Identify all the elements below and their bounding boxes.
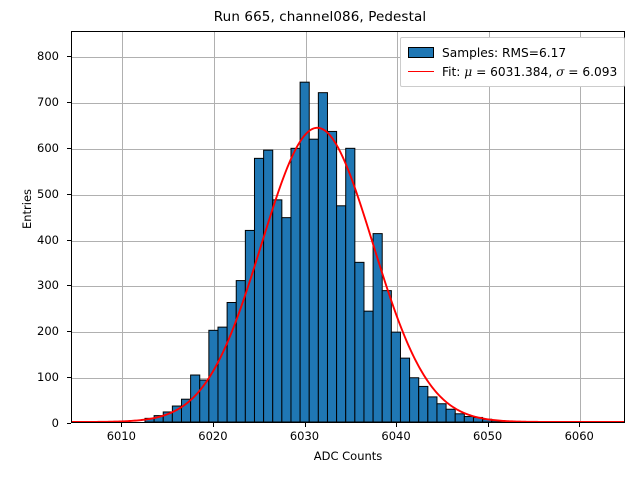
histogram-bar (391, 332, 400, 422)
histogram-bar (400, 358, 409, 422)
histogram-bar (236, 281, 245, 422)
histogram-bar (437, 404, 446, 422)
legend[interactable]: Samples: RMS=6.17 Fit: μ = 6031.384, σ =… (400, 37, 625, 87)
y-tick-label: 400 (37, 233, 59, 247)
x-tick-mark (305, 423, 306, 427)
histogram-bar (318, 93, 327, 422)
histogram-bar (218, 327, 227, 422)
histogram-bar (181, 399, 190, 422)
x-tick-mark (396, 423, 397, 427)
x-tick-label: 6040 (366, 429, 426, 443)
legend-patch-icon (408, 47, 434, 58)
y-tick-label: 800 (37, 49, 59, 63)
histogram-bar (254, 158, 263, 422)
histogram-bar (419, 386, 428, 422)
histogram-bar (364, 311, 373, 422)
legend-label-fit: Fit: μ = 6031.384, σ = 6.093 (442, 65, 617, 79)
legend-item-samples[interactable]: Samples: RMS=6.17 (408, 43, 617, 62)
matplotlib-figure: Run 665, channel086, Pedestal Entries AD… (0, 0, 640, 480)
y-tick-label: 500 (37, 187, 59, 201)
histogram-bar (346, 148, 355, 422)
y-tick-label: 0 (52, 416, 59, 430)
y-tick-label: 300 (37, 278, 59, 292)
legend-line-icon (408, 71, 434, 72)
histogram-bar (355, 262, 364, 422)
x-tick-mark (213, 423, 214, 427)
x-axis-label: ADC Counts (71, 449, 625, 463)
y-tick-mark (67, 423, 71, 424)
x-tick-label: 6010 (91, 429, 151, 443)
x-tick-label: 6060 (549, 429, 609, 443)
x-tick-label: 6020 (183, 429, 243, 443)
legend-item-fit[interactable]: Fit: μ = 6031.384, σ = 6.093 (408, 62, 617, 81)
y-tick-label: 700 (37, 95, 59, 109)
histogram-bar (327, 131, 336, 422)
legend-label-samples: Samples: RMS=6.17 (442, 46, 566, 60)
y-axis-label: Entries (20, 159, 34, 259)
histogram-bar (428, 397, 437, 422)
histogram-bar (309, 139, 318, 422)
chart-title: Run 665, channel086, Pedestal (0, 9, 640, 25)
x-tick-label: 6030 (275, 429, 335, 443)
histogram-bar (446, 409, 455, 422)
histogram-bar (382, 291, 391, 422)
histogram-bar (464, 417, 473, 422)
x-tick-label: 6050 (458, 429, 518, 443)
y-tick-label: 200 (37, 324, 59, 338)
legend-fit-prefix: Fit: (442, 65, 464, 79)
legend-mu-value: = 6031.384, (472, 65, 556, 79)
histogram-bar (200, 380, 209, 422)
histogram-bar (273, 200, 282, 422)
x-tick-mark (579, 423, 580, 427)
y-tick-label: 600 (37, 141, 59, 155)
plot-area (71, 31, 625, 423)
histogram-bar (410, 378, 419, 422)
histogram-bar (227, 302, 236, 422)
x-tick-mark (121, 423, 122, 427)
legend-mu-symbol: μ (464, 65, 472, 79)
histogram-bar (337, 206, 346, 422)
histogram-bar (455, 414, 464, 422)
legend-sigma-value: = 6.093 (564, 65, 617, 79)
histogram-bar (245, 230, 254, 422)
histogram-bar (282, 218, 291, 422)
histogram-bar (264, 150, 273, 422)
histogram-bar (291, 148, 300, 422)
y-tick-label: 100 (37, 370, 59, 384)
plot-canvas (72, 32, 624, 422)
x-tick-mark (488, 423, 489, 427)
